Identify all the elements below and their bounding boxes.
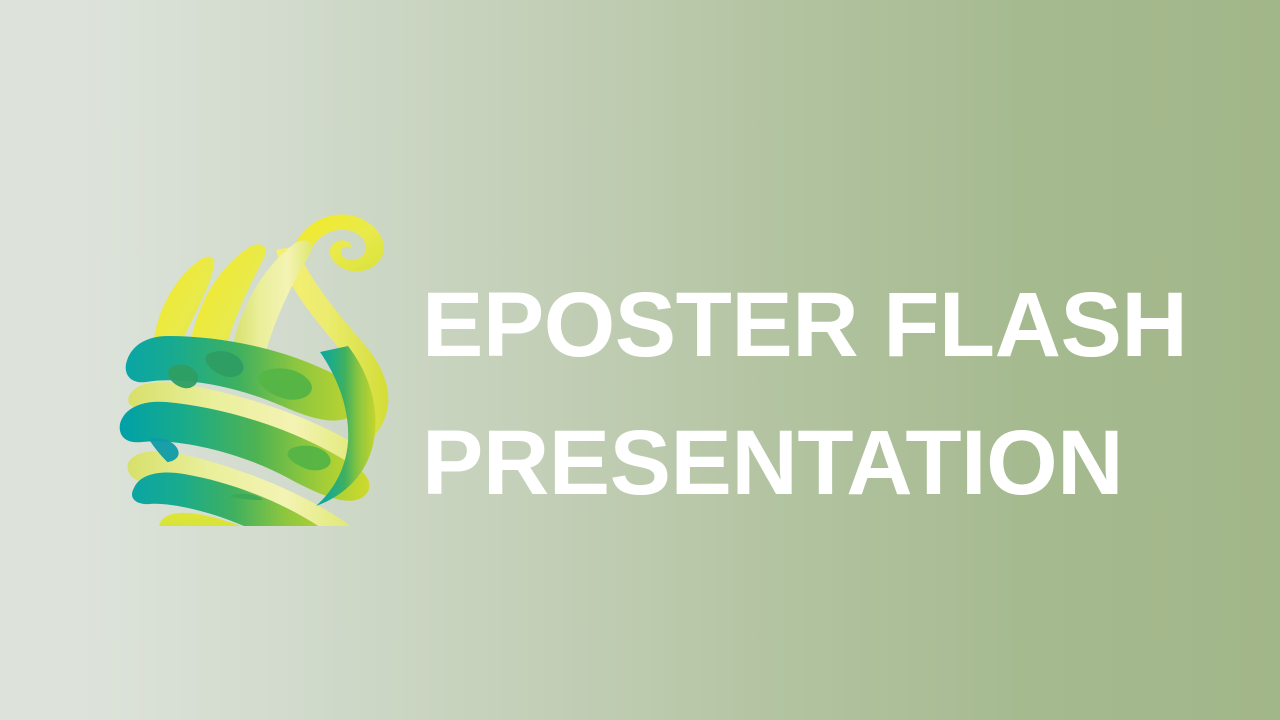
globe-ribbon-logo (112, 196, 412, 526)
presentation-slide: EPOSTER FLASH PRESENTATION (0, 0, 1280, 720)
slide-title-line-1: EPOSTER FLASH (422, 256, 1212, 394)
slide-title: EPOSTER FLASH PRESENTATION (422, 256, 1212, 532)
slide-title-line-2: PRESENTATION (422, 394, 1212, 532)
